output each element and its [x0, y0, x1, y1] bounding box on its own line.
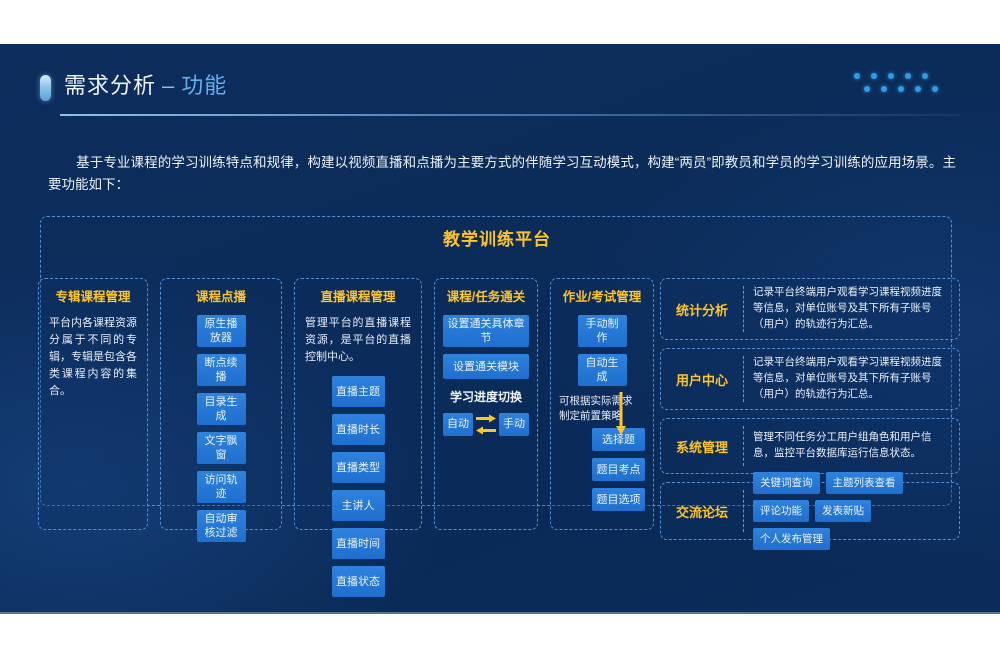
- page-title: 需求分析–功能: [64, 68, 227, 100]
- module-row-forum[interactable]: 交流论坛 关键词查询 主题列表查看 评论功能 发表新贴 个人发布管理: [660, 482, 960, 540]
- forum-tag[interactable]: 个人发布管理: [753, 528, 830, 550]
- header-dots-decoration: [854, 73, 946, 103]
- arrow-down-icon: [615, 392, 627, 436]
- feature-column-course-task-clearance[interactable]: 课程/任务通关 设置通关具体章节 设置通关模块 学习进度切换 自动: [434, 278, 538, 530]
- module-row-system-management[interactable]: 系统管理 管理不同任务分工用户组角色和用户信息，监控平台数据库运行信息状态。: [660, 418, 960, 474]
- module-tag-list: 关键词查询 主题列表查看 评论功能 发表新贴 个人发布管理: [744, 483, 959, 539]
- column-title: 专辑课程管理: [47, 289, 139, 305]
- column-button-grid: 直播主题 直播时长 直播类型 主讲人 直播时间 直播状态: [303, 376, 413, 597]
- page-title-main: 需求分析: [64, 73, 156, 98]
- dot: [898, 86, 904, 92]
- feature-button[interactable]: 主讲人: [332, 490, 385, 521]
- module-row-user-center[interactable]: 用户中心 记录平台终端用户观看学习课程视频进度等信息，对单位账号及其下所有子账号…: [660, 348, 960, 410]
- column-button-grid: 原生播放器 断点续播 目录生成 文字飘窗 访问轨迹 自动审核过滤: [169, 315, 273, 542]
- header-pill-icon: [40, 75, 51, 101]
- feature-button[interactable]: 设置通关具体章节: [443, 315, 529, 347]
- module-label: 交流论坛: [661, 483, 743, 539]
- feature-button[interactable]: 直播类型: [332, 452, 385, 483]
- feature-button[interactable]: 设置通关模块: [443, 354, 529, 379]
- column-title: 直播课程管理: [303, 289, 413, 305]
- feature-button[interactable]: 直播时间: [332, 528, 385, 559]
- column-button-grid: 设置通关具体章节 设置通关模块: [443, 315, 529, 379]
- feature-button[interactable]: 访问轨迹: [197, 471, 246, 503]
- column-title: 课程/任务通关: [443, 289, 529, 305]
- feature-button[interactable]: 直播主题: [332, 376, 385, 407]
- bidirectional-arrows-icon: [475, 412, 497, 436]
- forum-tag[interactable]: 关键词查询: [753, 472, 820, 494]
- feature-button[interactable]: 目录生成: [197, 393, 246, 425]
- feature-button[interactable]: 直播状态: [332, 566, 385, 597]
- feature-button[interactable]: 自动审核过滤: [197, 510, 246, 542]
- arrow-left-icon: [475, 426, 497, 435]
- feature-button[interactable]: 题目考点: [592, 458, 645, 481]
- toggle-option-manual[interactable]: 手动: [499, 413, 529, 436]
- feature-button[interactable]: 断点续播: [197, 354, 246, 386]
- feature-button[interactable]: 文字飘窗: [197, 432, 246, 464]
- dot: [922, 73, 928, 79]
- feature-column-course-on-demand[interactable]: 课程点播 原生播放器 断点续播 目录生成 文字飘窗 访问轨迹 自动审核过滤: [160, 278, 282, 530]
- forum-tag[interactable]: 发表新贴: [815, 500, 871, 522]
- column-description: 管理平台的直播课程资源，是平台的直播控制中心。: [303, 315, 413, 366]
- question-button-stack: 选择题 题目考点 题目选项: [592, 428, 645, 511]
- module-label: 用户中心: [661, 349, 743, 409]
- feature-column-live-course-management[interactable]: 直播课程管理 管理平台的直播课程资源，是平台的直播控制中心。 直播主题 直播时长…: [294, 278, 422, 530]
- page-title-separator: –: [162, 73, 175, 98]
- feature-button[interactable]: 直播时长: [332, 414, 385, 445]
- dots-row-bottom: [864, 86, 938, 92]
- progress-mode-toggle[interactable]: 自动 手动: [443, 412, 529, 436]
- intro-paragraph-text: 基于专业课程的学习训练特点和规律，构建以视频直播和点播为主要方式的伴随学习互动模…: [48, 155, 956, 192]
- feature-columns: 专辑课程管理 平台内各课程资源分属于不同的专辑，专辑是包含各类课程内容的集合。 …: [38, 278, 656, 566]
- toggle-option-auto[interactable]: 自动: [443, 413, 473, 436]
- question-flow: 选择题 题目考点 题目选项: [559, 428, 645, 511]
- arrow-right-icon: [475, 414, 497, 423]
- slide-canvas: 需求分析–功能 基于专业课程的学习训练特点和规律，构建以视频直播和点播为主要方式…: [0, 44, 1000, 614]
- column-title: 作业/考试管理: [559, 289, 645, 305]
- feature-button[interactable]: 原生播放器: [197, 315, 246, 347]
- column-title: 课程点播: [169, 289, 273, 305]
- feature-column-homework-exam-management[interactable]: 作业/考试管理 手动制作 自动生成 可根据实际需求制定前置策略 选择题 题目考点…: [550, 278, 654, 530]
- feature-button[interactable]: 自动生成: [578, 354, 627, 386]
- forum-tag[interactable]: 评论功能: [753, 500, 809, 522]
- column-button-grid: 手动制作 自动生成: [559, 315, 645, 386]
- platform-banner-title: 教学训练平台: [41, 217, 953, 257]
- dot: [932, 86, 938, 92]
- module-label: 统计分析: [661, 279, 743, 339]
- progress-switch-label: 学习进度切换: [443, 388, 529, 405]
- page-title-sub: 功能: [181, 73, 227, 98]
- column-description: 平台内各课程资源分属于不同的专辑，专辑是包含各类课程内容的集合。: [47, 315, 139, 400]
- dot: [881, 86, 887, 92]
- forum-tag[interactable]: 主题列表查看: [826, 472, 903, 494]
- module-description: 管理不同任务分工用户组角色和用户信息，监控平台数据库运行信息状态。: [744, 419, 959, 473]
- dot: [854, 73, 860, 79]
- dot: [871, 73, 877, 79]
- right-module-panel: 统计分析 记录平台终端用户观看学习课程视频进度等信息，对单位账号及其下所有子账号…: [660, 278, 960, 566]
- module-description: 记录平台终端用户观看学习课程视频进度等信息，对单位账号及其下所有子账号（用户）的…: [744, 279, 959, 339]
- header-divider: [60, 114, 960, 116]
- module-label: 系统管理: [661, 419, 743, 473]
- feature-column-album-course-management[interactable]: 专辑课程管理 平台内各课程资源分属于不同的专辑，专辑是包含各类课程内容的集合。: [38, 278, 148, 530]
- slide-header: 需求分析–功能: [40, 66, 960, 122]
- dot: [888, 73, 894, 79]
- dot: [905, 73, 911, 79]
- dots-row-top: [854, 73, 928, 79]
- dot: [864, 86, 870, 92]
- intro-paragraph: 基于专业课程的学习训练特点和规律，构建以视频直播和点播为主要方式的伴随学习互动模…: [48, 152, 956, 196]
- module-description: 记录平台终端用户观看学习课程视频进度等信息，对单位账号及其下所有子账号（用户）的…: [744, 349, 959, 409]
- feature-button[interactable]: 题目选项: [592, 488, 645, 511]
- dot: [915, 86, 921, 92]
- module-row-statistics[interactable]: 统计分析 记录平台终端用户观看学习课程视频进度等信息，对单位账号及其下所有子账号…: [660, 278, 960, 340]
- feature-button[interactable]: 手动制作: [578, 315, 627, 347]
